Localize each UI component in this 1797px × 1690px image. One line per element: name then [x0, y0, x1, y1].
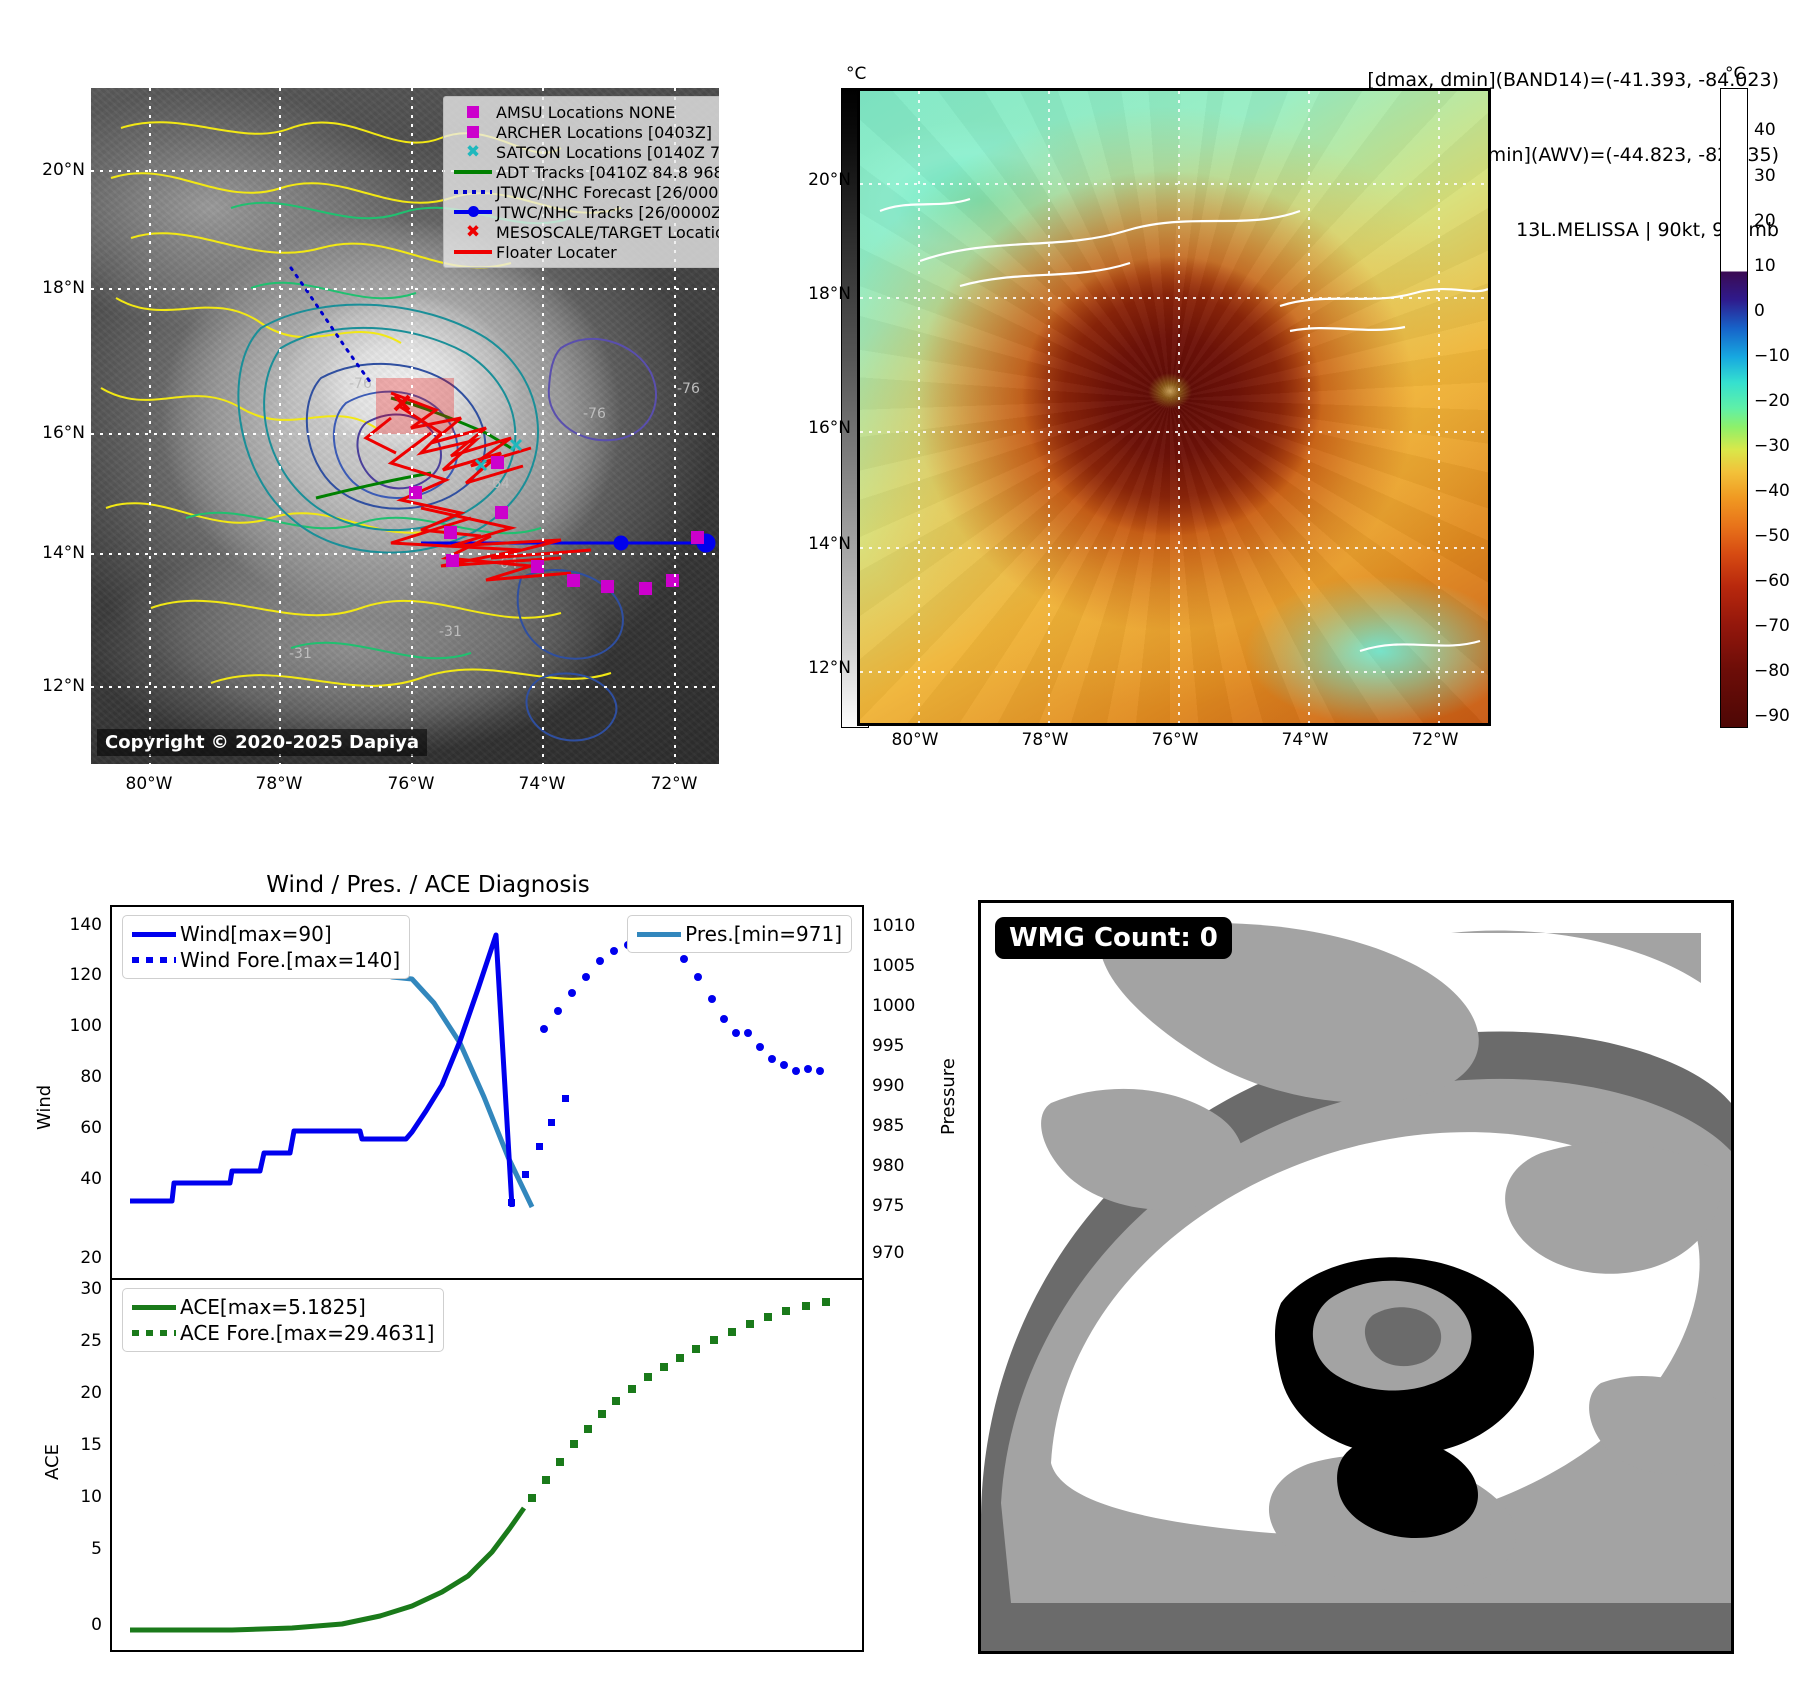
wind-ytick: 100	[70, 1016, 102, 1036]
legend-item: ADT Tracks [0410Z 84.8 968.4]	[450, 162, 719, 182]
awv-cb-tick: −70	[1754, 616, 1790, 636]
ir-ytick-20n: 20°N	[42, 160, 85, 180]
wmg-imagery	[981, 903, 1731, 1651]
ace-ytick: 10	[80, 1487, 102, 1507]
awv-cb-tick: −40	[1754, 481, 1790, 501]
wind-pressure-chart[interactable]: Wind[max=90] Wind Fore.[max=140] Pres.[m…	[110, 905, 864, 1280]
pressure-ytick: 1005	[872, 956, 915, 976]
ir-xtick-80w: 80°W	[126, 774, 173, 794]
svg-text:-64: -64	[487, 476, 510, 492]
legend-label: ACE[max=5.1825]	[180, 1295, 366, 1319]
pressure-ytick: 975	[872, 1196, 904, 1216]
pressure-ytick: 970	[872, 1243, 904, 1263]
awv-cb-tick: −90	[1754, 706, 1790, 726]
dotted-line-icon	[450, 190, 496, 194]
ir-gridline-lat-12n	[91, 686, 719, 688]
diagnosis-title: Wind / Pres. / ACE Diagnosis	[266, 872, 589, 898]
ace-ytick: 15	[80, 1435, 102, 1455]
legend-label: JTWC/NHC Forecast [26/0000Z]	[496, 183, 719, 202]
solid-line-icon	[450, 250, 496, 254]
awv-gridline-lat-14n	[860, 547, 1488, 549]
ir-gridline-lat-16n	[91, 433, 719, 435]
legend-item: JTWC/NHC Forecast [26/0000Z]	[450, 182, 719, 202]
line-dot-marker-icon	[450, 210, 496, 214]
svg-text:-31: -31	[439, 624, 462, 640]
pressure-axis-label: Pressure	[938, 1058, 959, 1135]
pressure-ytick: 990	[872, 1076, 904, 1096]
legend-label: ARCHER Locations [0403Z]	[496, 123, 712, 142]
wind-ytick: 20	[80, 1248, 102, 1268]
ace-chart[interactable]: ACE[max=5.1825] ACE Fore.[max=29.4631]	[110, 1278, 864, 1652]
legend-label: Pres.[min=971]	[685, 922, 842, 946]
square-marker-icon	[450, 106, 496, 118]
awv-gridline-lat-12n	[860, 671, 1488, 673]
ir-gridline-lon-78w	[279, 88, 281, 764]
pressure-ytick: 995	[872, 1036, 904, 1056]
awv-cb-tick: 0	[1754, 301, 1765, 321]
pressure-legend: Pres.[min=971]	[627, 915, 852, 953]
ir-gridline-lat-14n	[91, 553, 719, 555]
legend-item: Wind Fore.[max=140]	[132, 947, 400, 973]
ace-ytick: 0	[91, 1615, 102, 1635]
awv-xtick-74w: 74°W	[1282, 730, 1329, 750]
x-marker-icon: ✖	[450, 144, 496, 161]
awv-cb-tick: 40	[1754, 120, 1776, 140]
ace-ytick: 30	[80, 1279, 102, 1299]
svg-text:-31: -31	[289, 646, 312, 662]
square-marker-icon	[450, 126, 496, 138]
ir-gridline-lat-18n	[91, 288, 719, 290]
legend-item: ACE Fore.[max=29.4631]	[132, 1320, 434, 1346]
ir-xtick-72w: 72°W	[651, 774, 698, 794]
ir-xtick-74w: 74°W	[519, 774, 566, 794]
wmg-panel[interactable]: WMG Count: 0	[978, 900, 1734, 1654]
legend-item: ✖ MESOSCALE/TARGET Location	[450, 222, 719, 242]
copyright-notice: Copyright © 2020-2025 Dapiya	[97, 729, 427, 756]
legend-item: Pres.[min=971]	[637, 921, 842, 947]
ir-map-legend: AMSU Locations NONE ARCHER Locations [04…	[443, 96, 719, 268]
awv-cb-tick: 10	[1754, 256, 1776, 276]
ir-xtick-78w: 78°W	[256, 774, 303, 794]
svg-text:-76: -76	[583, 406, 606, 422]
awv-gridline-lat-16n	[860, 431, 1488, 433]
ir-gridline-lon-80w	[149, 88, 151, 764]
wmg-count-badge: WMG Count: 0	[995, 917, 1232, 959]
awv-gridline-lon-74w	[1308, 91, 1310, 723]
awv-cb-tick: −20	[1754, 391, 1790, 411]
ir-ytick-14n: 14°N	[42, 543, 85, 563]
solid-line-icon	[132, 1305, 180, 1310]
ir-colorbar-unit: °C	[846, 64, 866, 84]
ace-ytick: 5	[91, 1539, 102, 1559]
dashboard-root: GOES-19 BAND14-DIAS MESOSCALE Time: 2025…	[0, 0, 1797, 1690]
awv-cb-tick: −30	[1754, 436, 1790, 456]
legend-label: Wind[max=90]	[180, 922, 332, 946]
ace-legend: ACE[max=5.1825] ACE Fore.[max=29.4631]	[122, 1288, 444, 1352]
awv-gridline-lat-20n	[860, 183, 1488, 185]
ace-ytick: 20	[80, 1383, 102, 1403]
awv-colorbar: 40 30 20 10 0 −10 −20 −30 −40 −50 −60 −7…	[1720, 88, 1748, 728]
awv-cb-tick: −50	[1754, 526, 1790, 546]
wind-ytick: 140	[70, 915, 102, 935]
awv-colorbar-unit: °C	[1725, 64, 1745, 84]
dotted-line-icon	[132, 1330, 180, 1336]
ir-mesoscale-map[interactable]: -76 -76 -76 -64 -64 -31 -31	[91, 88, 719, 764]
legend-label: ACE Fore.[max=29.4631]	[180, 1321, 434, 1345]
awv-gridline-lat-18n	[860, 297, 1488, 299]
wind-ytick: 40	[80, 1169, 102, 1189]
wind-ytick: 80	[80, 1067, 102, 1087]
legend-item: JTWC/NHC Tracks [26/0000Z]	[450, 202, 719, 222]
wind-ytick: 60	[80, 1118, 102, 1138]
pressure-ytick: 1000	[872, 996, 915, 1016]
ace-axis-label: ACE	[42, 1444, 63, 1480]
legend-label: Floater Locater	[496, 243, 617, 262]
legend-item: Floater Locater	[450, 242, 719, 262]
awv-cb-tick: −80	[1754, 661, 1790, 681]
awv-gridline-lon-80w	[918, 91, 920, 723]
ir-ytick-12n: 12°N	[42, 676, 85, 696]
awv-ytick-20n: 20°N	[808, 170, 851, 190]
awv-coastline-overlay	[860, 91, 1488, 723]
dotted-line-icon	[132, 957, 180, 963]
x-marker-icon: ✖	[450, 224, 496, 241]
wind-legend: Wind[max=90] Wind Fore.[max=140]	[122, 915, 410, 979]
solid-line-icon	[637, 932, 685, 937]
awv-gridline-lon-72w	[1438, 91, 1440, 723]
awv-cb-tick: 20	[1754, 211, 1776, 231]
legend-label: JTWC/NHC Tracks [26/0000Z]	[496, 203, 719, 222]
awv-ytick-16n: 16°N	[808, 418, 851, 438]
wind-axis-label: Wind	[34, 1085, 55, 1130]
legend-label: SATCON Locations [0140Z 79 975]	[496, 143, 719, 162]
awv-gridline-lon-78w	[1048, 91, 1050, 723]
legend-label: Wind Fore.[max=140]	[180, 948, 400, 972]
awv-cb-tick: −60	[1754, 571, 1790, 591]
awv-mesoscale-map[interactable]	[857, 88, 1491, 726]
ir-xtick-76w: 76°W	[388, 774, 435, 794]
wind-ytick: 120	[70, 965, 102, 985]
awv-cb-tick: 30	[1754, 166, 1776, 186]
awv-xtick-78w: 78°W	[1022, 730, 1069, 750]
pressure-ytick: 1010	[872, 916, 915, 936]
pressure-ytick: 985	[872, 1116, 904, 1136]
legend-item: AMSU Locations NONE	[450, 102, 719, 122]
solid-line-icon	[450, 170, 496, 174]
awv-ytick-18n: 18°N	[808, 284, 851, 304]
awv-xtick-76w: 76°W	[1152, 730, 1199, 750]
legend-label: MESOSCALE/TARGET Location	[496, 223, 719, 242]
legend-item: ✖ SATCON Locations [0140Z 79 975]	[450, 142, 719, 162]
awv-ytick-12n: 12°N	[808, 658, 851, 678]
ir-ytick-18n: 18°N	[42, 278, 85, 298]
legend-item: Wind[max=90]	[132, 921, 400, 947]
awv-gridline-lon-76w	[1178, 91, 1180, 723]
legend-label: AMSU Locations NONE	[496, 103, 675, 122]
svg-text:-76: -76	[677, 381, 700, 397]
legend-item: ACE[max=5.1825]	[132, 1294, 434, 1320]
ace-ytick: 25	[80, 1331, 102, 1351]
pressure-ytick: 980	[872, 1156, 904, 1176]
ir-ytick-16n: 16°N	[42, 423, 85, 443]
solid-line-icon	[132, 932, 180, 937]
ir-gridline-lon-76w	[411, 88, 413, 764]
awv-ytick-14n: 14°N	[808, 534, 851, 554]
awv-xtick-80w: 80°W	[892, 730, 939, 750]
awv-cb-tick: −10	[1754, 346, 1790, 366]
legend-item: ARCHER Locations [0403Z]	[450, 122, 719, 142]
awv-xtick-72w: 72°W	[1412, 730, 1459, 750]
legend-label: ADT Tracks [0410Z 84.8 968.4]	[496, 163, 719, 182]
